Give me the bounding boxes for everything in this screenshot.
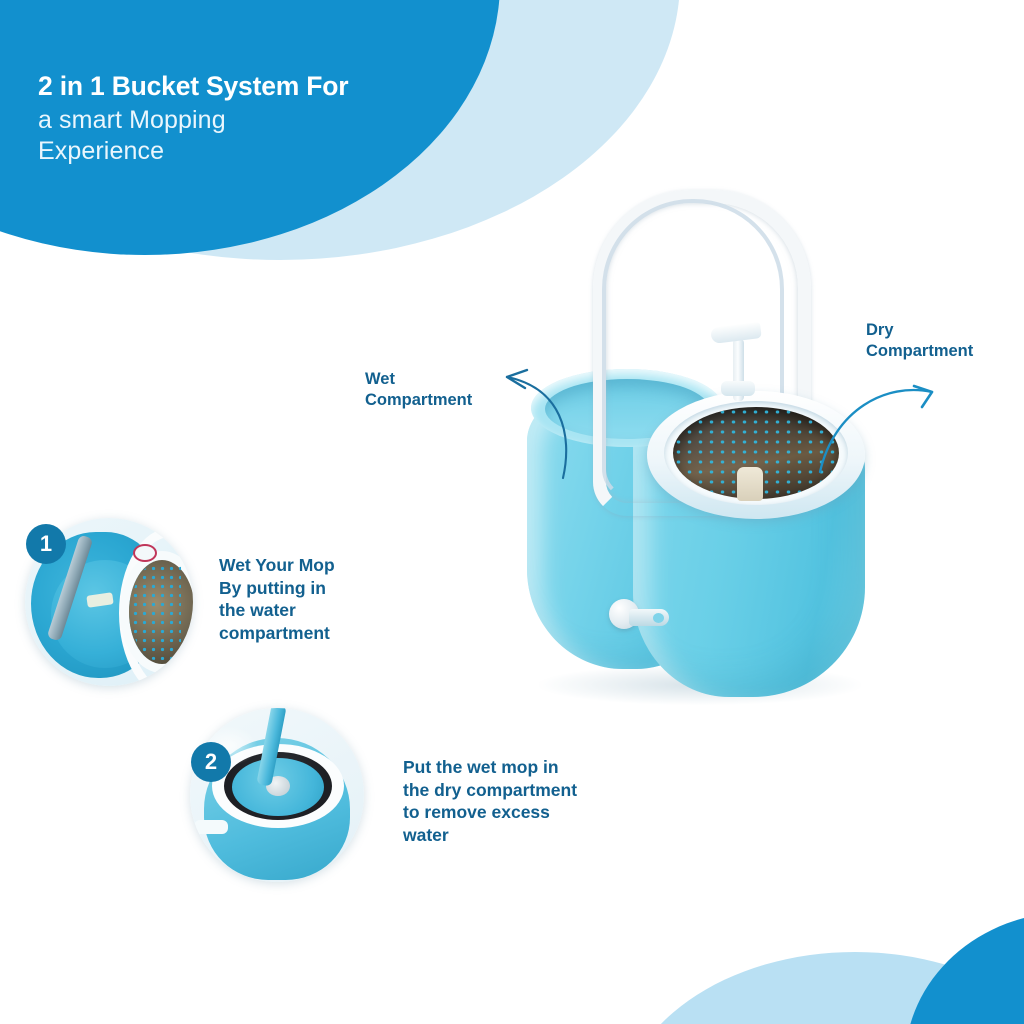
step-1-line2: By putting in (219, 577, 419, 600)
bucket-cap (133, 544, 157, 562)
infographic-poster: 2 in 1 Bucket System For a smart Mopping… (0, 0, 1024, 1024)
drain-plug (653, 613, 664, 623)
step-1-line4: compartment (219, 622, 419, 645)
step-1-line1: Wet Your Mop (219, 554, 419, 577)
step-2-line3: to remove excess (403, 801, 633, 824)
curved-arrow-right-icon (790, 366, 980, 486)
step-1-line3: the water (219, 599, 419, 622)
step-2-line4: water (403, 824, 633, 847)
bucket-dry-compartment-photo (190, 708, 364, 882)
spinner-hub (737, 467, 763, 501)
headline-block: 2 in 1 Bucket System For a smart Mopping… (38, 72, 468, 168)
step-2-line1: Put the wet mop in (403, 756, 633, 779)
headline-secondary-line1: a smart Mopping (38, 105, 468, 137)
curved-arrow-left-icon (445, 352, 625, 482)
headline-secondary-line2: Experience (38, 136, 468, 168)
step-2-text: Put the wet mop in the dry compartment t… (403, 756, 633, 846)
dry-compartment-label-line1: Dry (866, 320, 1024, 341)
corner-light-blue-circle (620, 952, 1024, 1024)
drain-spout (194, 820, 228, 834)
corner-blue-circle (905, 912, 1024, 1024)
dry-compartment-label-line2: Compartment (866, 341, 1024, 362)
step-1-badge: 1 (26, 524, 66, 564)
dry-compartment-label: Dry Compartment (866, 320, 1024, 363)
step-2-line2: the dry compartment (403, 779, 633, 802)
step-1-text: Wet Your Mop By putting in the water com… (219, 554, 419, 644)
step-2-badge: 2 (191, 742, 231, 782)
soap-dispenser-collar (721, 381, 755, 396)
spinner-perforations (131, 564, 181, 660)
headline-primary: 2 in 1 Bucket System For (38, 72, 468, 102)
